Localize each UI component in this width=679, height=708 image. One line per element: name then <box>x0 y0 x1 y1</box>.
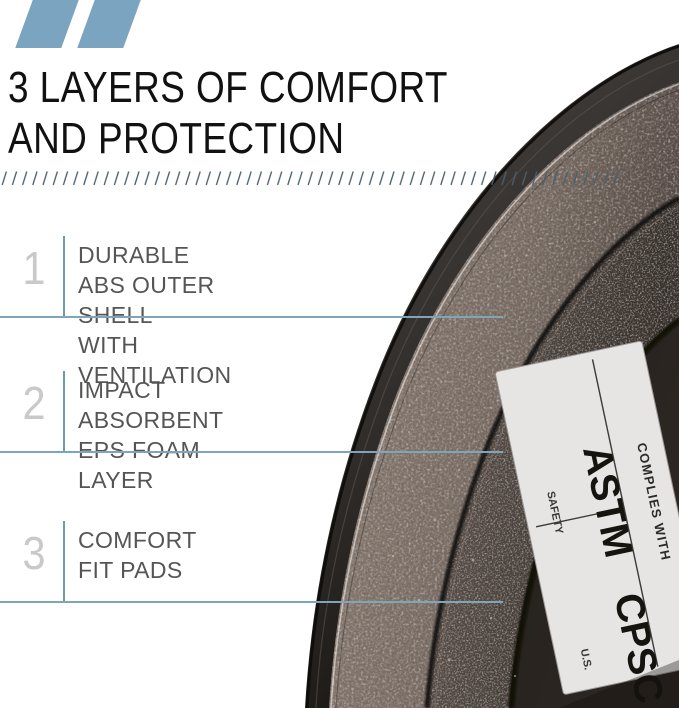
helmet-layers-infographic: ASTM CPSC COMPLIES WITH SAFETY U.S. 3 LA… <box>0 0 679 708</box>
layer-text-1: DURABLE ABS OUTER SHELL WITH VENTILATION <box>78 240 232 390</box>
layer-underline-1 <box>0 316 503 318</box>
layer-vertical-rule-2 <box>63 371 65 453</box>
layer-text-3: COMFORT FIT PADS <box>78 525 197 585</box>
page-title: 3 LAYERS OF COMFORT AND PROTECTION <box>8 62 546 164</box>
layer-underline-3 <box>0 601 503 603</box>
layer-number-1: 1 <box>14 242 54 294</box>
hatch-pattern <box>0 170 622 186</box>
layer-vertical-rule-1 <box>63 236 65 318</box>
quote-slab-right <box>77 0 140 48</box>
layer-underline-2 <box>0 451 503 453</box>
layer-number-3: 3 <box>14 527 54 579</box>
layer-vertical-rule-3 <box>63 521 65 603</box>
quote-mark-icon <box>14 0 134 48</box>
layer-text-2: IMPACT ABSORBENT EPS FOAM LAYER <box>78 375 223 495</box>
quote-slab-left <box>15 0 78 48</box>
diagonal-hatch-divider <box>0 170 622 186</box>
layer-number-2: 2 <box>14 377 54 429</box>
